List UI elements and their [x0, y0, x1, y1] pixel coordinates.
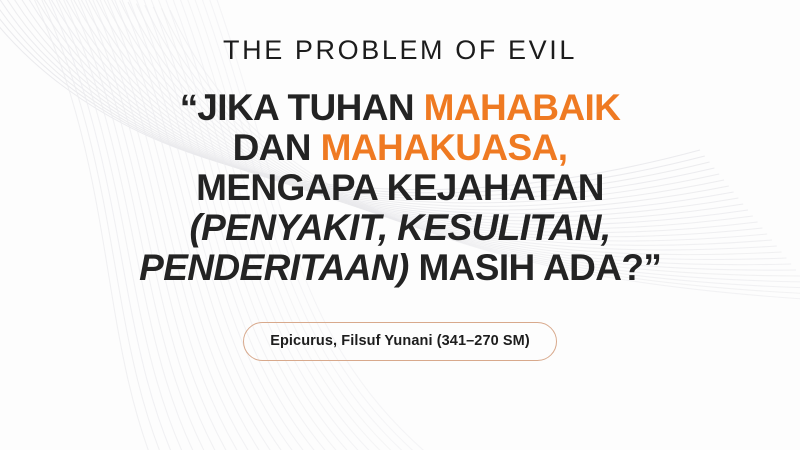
close-quote-mark: ”: [643, 247, 661, 288]
quote-line-3: MENGAPA KEJAHATAN: [50, 168, 750, 208]
slide-canvas: THE PROBLEM OF EVIL “JIKA TUHAN MAHABAIK…: [0, 0, 800, 450]
attribution-pill: Epicurus, Filsuf Yunani (341–270 SM): [243, 322, 557, 361]
quote-line-1: “JIKA TUHAN MAHABAIK: [50, 88, 750, 128]
quote-segment-plain: MENGAPA KEJAHATAN: [196, 167, 604, 208]
slide-content: THE PROBLEM OF EVIL “JIKA TUHAN MAHABAIK…: [0, 0, 800, 450]
open-quote-mark: “: [180, 87, 198, 128]
quote-segment-plain: JIKA TUHAN: [197, 87, 423, 128]
quote-segment-italic: PENDERITAAN): [139, 247, 409, 288]
attribution-text: Epicurus, Filsuf Yunani (341–270 SM): [270, 333, 530, 349]
quote-segment-plain: DAN: [233, 127, 321, 168]
attribution-wrapper: Epicurus, Filsuf Yunani (341–270 SM): [243, 322, 557, 361]
quote-line-2: DAN MAHAKUASA,: [50, 128, 750, 168]
quote-line-4: (PENYAKIT, KESULITAN,: [50, 208, 750, 248]
quote-segment-accent: MAHABAIK: [424, 87, 621, 128]
page-title: THE PROBLEM OF EVIL: [223, 36, 577, 66]
quote-segment-accent: MAHAKUASA,: [321, 127, 568, 168]
quote-line-5: PENDERITAAN) MASIH ADA?”: [50, 248, 750, 288]
quote-block: “JIKA TUHAN MAHABAIK DAN MAHAKUASA, MENG…: [50, 88, 750, 288]
quote-segment-italic: (PENYAKIT, KESULITAN,: [189, 207, 610, 248]
quote-segment-plain: MASIH ADA?: [409, 247, 644, 288]
